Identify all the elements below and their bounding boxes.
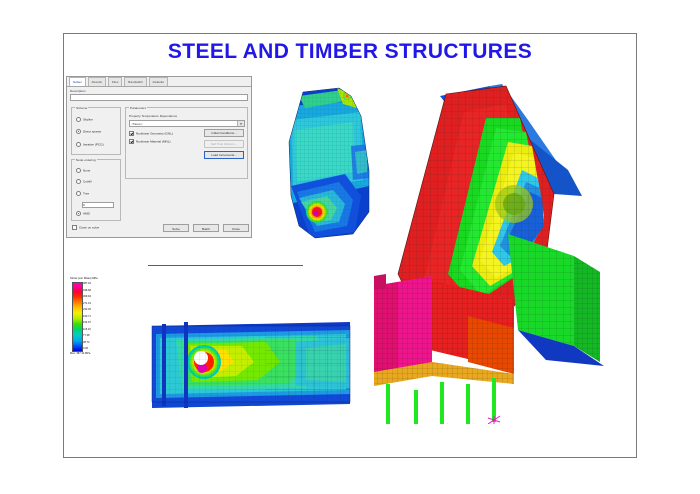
radio-order-tree-label: Tree: [83, 192, 89, 196]
load-increments-button[interactable]: Load Increments...: [204, 151, 244, 159]
radio-order-cuthill[interactable]: Cuthill: [76, 179, 92, 184]
close-on-solve-checkbox[interactable]: Close on solve: [72, 225, 99, 230]
beam-stiffener: [184, 322, 188, 408]
radio-iterative-pcg-label: Iterative (PCG): [83, 143, 104, 147]
legend-title: Stress (von Mises) MPa: [70, 277, 98, 280]
checkbox-nonlinear-material-label: Nonlinear Material (MNL): [136, 140, 171, 144]
legend-value: 309.94: [83, 295, 91, 298]
property-temp-combobox[interactable]: <None> ▼: [129, 120, 245, 127]
radio-iterative-pcg[interactable]: Iterative (PCG): [76, 142, 104, 147]
legend-value: 0.00: [83, 347, 88, 350]
checkbox-nonlinear-geometry-label: Nonlinear Geometry (GNL): [136, 132, 173, 136]
scheme-group-title: Scheme: [75, 106, 88, 110]
close-on-solve-label: Close on solve: [79, 226, 99, 230]
beam-stiffener: [162, 324, 166, 406]
radio-dot-icon: [76, 142, 81, 147]
radio-dot-icon: [76, 191, 81, 196]
radio-direct-sparse[interactable]: Direct sparse: [76, 129, 101, 134]
radio-dot-icon: [76, 117, 81, 122]
section-divider: [148, 265, 303, 266]
chevron-down-icon[interactable]: ▼: [237, 121, 244, 126]
beam-web-opening-model: [146, 312, 358, 420]
checkbox-nonlinear-material[interactable]: Nonlinear Material (MNL): [129, 139, 171, 144]
legend-value: 387.42: [83, 282, 91, 285]
legend-value: 193.71: [83, 315, 91, 318]
parameters-groupbox: Parameters Property Temperature Dependen…: [125, 107, 248, 179]
legend-value: 271.19: [83, 302, 91, 305]
support-columns: [386, 378, 496, 424]
solve-button[interactable]: Solve: [163, 224, 189, 232]
checkbox-icon: [72, 225, 77, 230]
radio-order-none-label: None: [83, 169, 90, 173]
column-stub: [374, 274, 386, 290]
batch-button[interactable]: Batch: [193, 224, 219, 232]
scheme-groupbox: Scheme Skyline Direct sparse Iterative (…: [71, 107, 121, 155]
contour-legend: Stress (von Mises) MPa 387.42 348.68 309…: [70, 277, 122, 357]
initial-conditions-button[interactable]: Initial Conditions...: [204, 129, 244, 137]
radio-dot-icon: [76, 179, 81, 184]
legend-value: 38.74: [83, 341, 90, 344]
legend-value: 154.97: [83, 321, 91, 324]
legend-value: 77.48: [83, 334, 90, 337]
legend-value: 232.45: [83, 308, 91, 311]
description-input[interactable]: [70, 94, 248, 101]
tab-files[interactable]: Files: [108, 77, 123, 86]
tree-value-input[interactable]: 0: [82, 202, 114, 208]
radio-dot-icon: [76, 129, 81, 134]
radio-skyline[interactable]: Skyline: [76, 117, 93, 122]
fea-solver-dialog[interactable]: Solver Results Files Bandwidth Defaults …: [66, 76, 252, 238]
legend-footer: Max: 387.42 MPa: [70, 352, 90, 355]
node-ordering-groupbox: Node ordering None Cuthill Tree 0 AMD: [71, 159, 121, 221]
radio-order-none[interactable]: None: [76, 168, 90, 173]
beam-column-connection-model: [368, 84, 640, 424]
node-ordering-group-title: Node ordering: [75, 158, 97, 162]
radio-order-amd-label: AMD: [83, 212, 90, 216]
tab-results[interactable]: Results: [88, 77, 106, 86]
radio-order-tree[interactable]: Tree: [76, 191, 89, 196]
legend-colorbar: [72, 282, 83, 352]
radio-direct-sparse-label: Direct sparse: [83, 130, 101, 134]
legend-value: 116.23: [83, 328, 91, 331]
radio-dot-icon: [76, 211, 81, 216]
description-label: Description: [70, 89, 85, 93]
tab-solver[interactable]: Solver: [69, 77, 86, 86]
property-temp-label: Property Temperature Dependence: [129, 114, 177, 118]
radio-order-cuthill-label: Cuthill: [83, 180, 92, 184]
legend-value: 348.68: [83, 289, 91, 292]
checkbox-icon: [129, 131, 134, 136]
property-temp-value: <None>: [132, 122, 143, 126]
radio-dot-icon: [76, 168, 81, 173]
checkbox-nonlinear-geometry[interactable]: Nonlinear Geometry (GNL): [129, 131, 173, 136]
checkbox-icon: [129, 139, 134, 144]
parameters-group-title: Parameters: [129, 106, 147, 110]
page-title: STEEL AND TIMBER STRUCTURES: [63, 40, 637, 64]
tab-defaults[interactable]: Defaults: [149, 77, 168, 86]
tab-bandwidth[interactable]: Bandwidth: [124, 77, 146, 86]
radio-skyline-label: Skyline: [83, 118, 93, 122]
self-post-options-button: Self Post Options...: [204, 140, 244, 148]
radio-order-amd[interactable]: AMD: [76, 211, 90, 216]
close-button[interactable]: Close: [223, 224, 249, 232]
dialog-tabstrip[interactable]: Solver Results Files Bandwidth Defaults: [67, 77, 251, 87]
